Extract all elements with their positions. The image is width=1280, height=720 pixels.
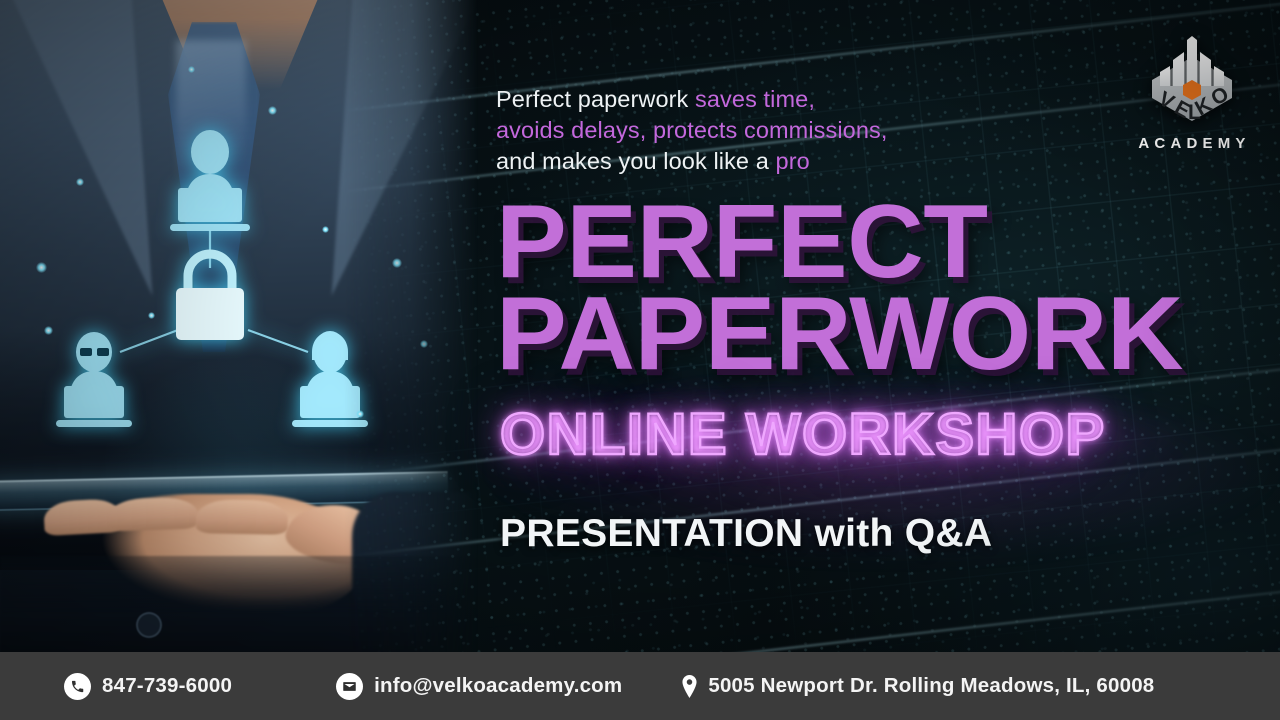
suit-sleeve bbox=[0, 556, 478, 652]
envelope-icon bbox=[336, 673, 363, 700]
map-pin-icon bbox=[678, 673, 700, 700]
hero-photo bbox=[0, 0, 478, 652]
suit-button bbox=[136, 612, 162, 638]
tagline-line2-accent: avoids delays, protects commissions, bbox=[496, 117, 888, 143]
tagline-line1-accent: saves time, bbox=[695, 86, 815, 112]
tagline-line3-plain: and makes you look like a bbox=[496, 148, 776, 174]
headline-line-2: PAPERWORK bbox=[496, 288, 1200, 380]
promotional-banner: Perfect paperwork saves time, avoids del… bbox=[0, 0, 1280, 720]
velko-academy-logo: V E L K O ACADEMY bbox=[1132, 24, 1252, 152]
footer-email[interactable]: info@velkoacademy.com bbox=[336, 673, 622, 700]
phone-icon bbox=[64, 673, 91, 700]
headline-line-1: PERFECT bbox=[496, 196, 1200, 288]
velko-hexagon-towers-icon: V E L K O bbox=[1138, 24, 1246, 128]
person-with-glasses-at-laptop-icon bbox=[56, 332, 132, 427]
logo-subtitle: ACADEMY bbox=[1132, 135, 1252, 152]
presentation-subheading: PRESENTATION with Q&A bbox=[500, 512, 992, 556]
tagline-line3-accent: pro bbox=[776, 148, 810, 174]
footer-address[interactable]: 5005 Newport Dr. Rolling Meadows, IL, 60… bbox=[678, 673, 1154, 700]
footer-email-text: info@velkoacademy.com bbox=[374, 674, 622, 698]
page-title: PERFECT PAPERWORK bbox=[496, 196, 1200, 380]
contact-footer-bar: 847-739-6000 info@velkoacademy.com 5005 … bbox=[0, 652, 1280, 720]
content-column: Perfect paperwork saves time, avoids del… bbox=[496, 0, 1196, 652]
finger bbox=[107, 496, 198, 531]
neon-subtitle: ONLINE WORKSHOP bbox=[500, 404, 1200, 466]
footer-address-text: 5005 Newport Dr. Rolling Meadows, IL, 60… bbox=[708, 674, 1154, 698]
tagline: Perfect paperwork saves time, avoids del… bbox=[496, 84, 1016, 177]
tagline-line1-plain: Perfect paperwork bbox=[496, 86, 695, 112]
person-at-laptop-icon bbox=[170, 130, 250, 231]
finger bbox=[196, 499, 289, 535]
footer-phone[interactable]: 847-739-6000 bbox=[64, 673, 232, 700]
footer-phone-text: 847-739-6000 bbox=[102, 674, 232, 698]
